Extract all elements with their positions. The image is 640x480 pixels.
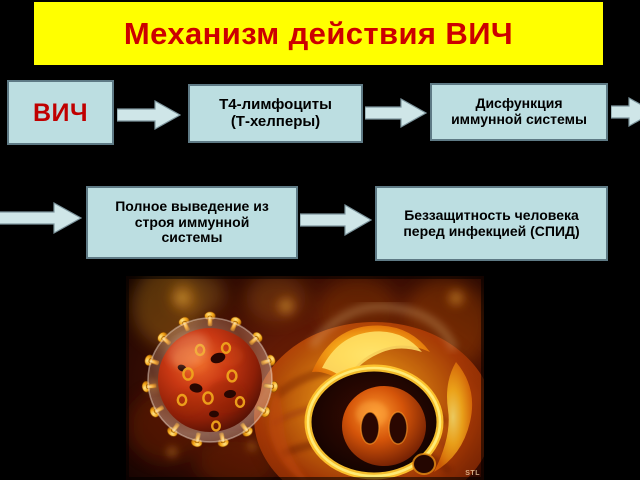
flow-box-hiv: ВИЧ [7, 80, 114, 145]
flow-arrow-t4-to-dysfunction [365, 98, 427, 128]
flow-box-t4-line1: Т4-лимфоциты [219, 96, 332, 113]
flow-arrow-hiv-to-t4 [117, 100, 181, 130]
image-watermark: STL [465, 470, 480, 477]
flow-box-defenseless-label: Беззащитность человека перед инфекцией (… [397, 208, 585, 239]
flow-box-defenseless-line2: перед инфекцией (СПИД) [403, 223, 579, 239]
virus-illustration-image: STL [126, 276, 484, 480]
page-title: Механизм действия ВИЧ [124, 18, 513, 49]
flow-box-dysfunction-label: Дисфункция иммунной системы [445, 96, 593, 127]
flow-box-full-shutdown-label: Полное выведение из строя иммунной систе… [109, 199, 275, 246]
flow-box-immune-dysfunction: Дисфункция иммунной системы [430, 83, 608, 141]
flow-box-full-shutdown-line1: Полное выведение из [115, 198, 269, 214]
flow-arrow-dysfunction-wrap-out [611, 97, 640, 127]
title-banner: Механизм действия ВИЧ [34, 2, 603, 65]
flow-box-t4-label: Т4-лимфоциты (Т-хелперы) [213, 97, 338, 131]
flow-box-t4-line2: (Т-хелперы) [231, 113, 320, 130]
flow-box-dysfunction-line2: иммунной системы [451, 111, 587, 127]
flow-box-full-immune-shutdown: Полное выведение из строя иммунной систе… [86, 186, 298, 259]
flow-arrow-shutdown-to-defenseless [300, 204, 372, 236]
flow-arrow-wrap-in-to-full-shutdown [0, 201, 82, 235]
flow-box-full-shutdown-line2: строя иммунной [135, 214, 250, 230]
flow-box-defenseless-aids: Беззащитность человека перед инфекцией (… [375, 186, 608, 261]
flow-box-dysfunction-line1: Дисфункция [475, 95, 562, 111]
flow-box-defenseless-line1: Беззащитность человека [404, 207, 579, 223]
flow-box-full-shutdown-line3: системы [162, 229, 223, 245]
slide-canvas: Механизм действия ВИЧ ВИЧ Т4-лимфоциты (… [0, 0, 640, 480]
flow-box-t4-lymphocytes: Т4-лимфоциты (Т-хелперы) [188, 84, 363, 143]
flow-box-hiv-label: ВИЧ [27, 99, 94, 127]
